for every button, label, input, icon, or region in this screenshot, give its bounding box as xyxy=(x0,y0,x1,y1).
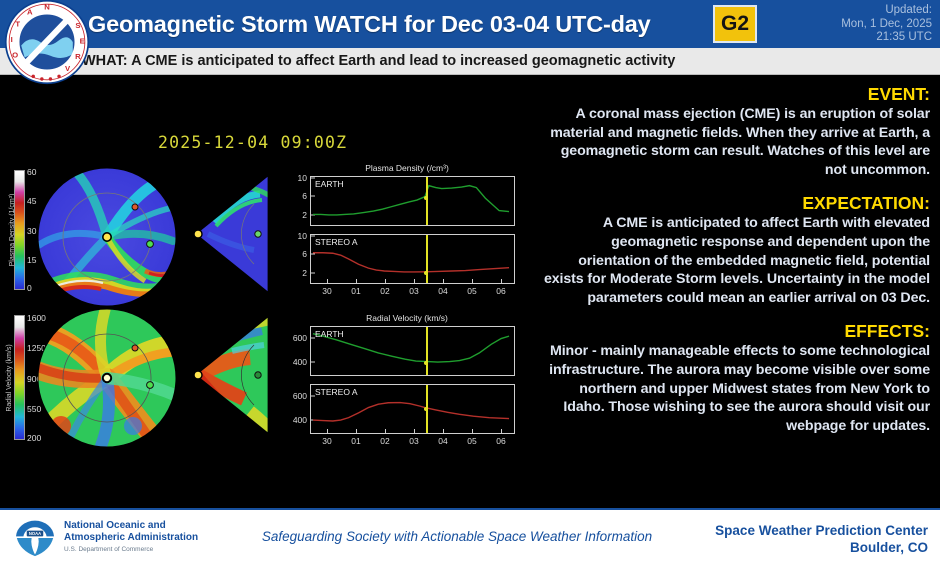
model-frame-timestamp: 2025-12-04 09:00Z xyxy=(158,133,347,152)
section-body: A CME is anticipated to affect Earth wit… xyxy=(543,214,930,307)
svg-text:NOAA: NOAA xyxy=(29,531,41,536)
x-tick: 01 xyxy=(351,286,360,296)
agency-line-1: National Oceanic and xyxy=(64,520,198,532)
svg-text:I: I xyxy=(11,35,13,44)
agency-line-2: Atmospheric Administration xyxy=(64,532,198,544)
x-tick: 06 xyxy=(496,286,505,296)
velocity-ecliptic-plot xyxy=(37,308,177,448)
department-of-commerce-label: U.S. Department of Commerce xyxy=(64,546,153,553)
velocity-colorbar-gradient xyxy=(14,315,25,440)
page-title: Geomagnetic Storm WATCH for Dec 03-04 UT… xyxy=(88,4,698,44)
sun-marker-icon xyxy=(194,371,202,379)
svg-text:S: S xyxy=(75,21,80,30)
arrival-value-dot xyxy=(424,407,428,411)
report-text-panel: EVENT: A coronal mass ejection (CME) is … xyxy=(537,78,940,508)
arrival-time-marker xyxy=(426,235,428,283)
x-tick: 02 xyxy=(380,286,389,296)
earth-marker-icon xyxy=(147,382,154,389)
colorbar-tick: 30 xyxy=(27,226,36,236)
x-tick: 05 xyxy=(467,436,476,446)
x-tick: 05 xyxy=(467,286,476,296)
section-heading: EXPECTATION: xyxy=(543,193,930,214)
swpc-storm-watch-graphic: Geomagnetic Storm WATCH for Dec 03-04 UT… xyxy=(0,0,940,562)
report-section-effects: EFFECTS: Minor - mainly manageable effec… xyxy=(543,321,930,435)
noaa-agency-name: National Oceanic and Atmospheric Adminis… xyxy=(64,520,198,543)
center-line-2: Boulder, CO xyxy=(715,539,928,556)
report-section-expectation: EXPECTATION: A CME is anticipated to aff… xyxy=(543,193,930,307)
updated-time: 21:35 UTC xyxy=(762,31,932,45)
y-tick: 600 xyxy=(293,391,307,401)
updated-label: Updated: xyxy=(762,4,932,18)
stereo-a-marker-icon xyxy=(132,204,138,210)
svg-text:R: R xyxy=(75,52,81,61)
plasma-density-stereoa-panel: STEREO A 10 6 2 30 01 02 03 04 05 06 xyxy=(310,234,515,284)
x-tick: 30 xyxy=(322,286,331,296)
sun-marker-icon xyxy=(194,230,202,238)
arrival-value-dot xyxy=(424,271,428,275)
enlil-model-panel: 2025-12-04 09:00Z Plasma Density (1/cm³)… xyxy=(0,75,537,475)
arrival-value-dot xyxy=(424,361,428,365)
y-tick: 400 xyxy=(293,357,307,367)
svg-text:N: N xyxy=(44,2,50,11)
density-ecliptic-plot xyxy=(37,167,177,307)
radial-velocity-chart-title: Radial Velocity (km/s) xyxy=(282,313,532,323)
what-subtitle-text: WHAT: A CME is anticipated to affect Ear… xyxy=(82,53,675,69)
density-colorbar-gradient xyxy=(14,170,25,290)
x-tick: 04 xyxy=(438,286,447,296)
radial-velocity-chart: Radial Velocity (km/s) EARTH 600 400 STE… xyxy=(282,313,532,448)
what-subtitle-bar: WHAT: A CME is anticipated to affect Ear… xyxy=(0,48,940,75)
plasma-density-chart-title: Plasma Density (/cm³) xyxy=(282,163,532,173)
section-body: Minor - mainly manageable effects to som… xyxy=(543,342,930,435)
x-tick: 03 xyxy=(409,436,418,446)
arrival-time-marker xyxy=(426,327,428,375)
earth-marker-icon xyxy=(147,241,154,248)
storm-scale-badge: G2 xyxy=(713,5,757,43)
velocity-colorbar-title: Radial Velocity (km/s) xyxy=(6,344,13,411)
radial-velocity-earth-panel: EARTH 600 400 xyxy=(310,326,515,376)
x-tick: 01 xyxy=(351,436,360,446)
x-tick: 03 xyxy=(409,286,418,296)
arrival-value-dot xyxy=(424,196,428,200)
y-tick: 400 xyxy=(293,415,307,425)
y-tick: 6 xyxy=(302,191,307,201)
x-tick: 06 xyxy=(496,436,505,446)
footer-bar: NOAA National Oceanic and Atmospheric Ad… xyxy=(0,508,940,562)
sun-marker-icon xyxy=(103,233,111,241)
earth-marker-icon xyxy=(255,231,261,237)
stereo-a-marker-icon xyxy=(132,345,138,351)
swpc-center-name: Space Weather Prediction Center Boulder,… xyxy=(715,522,928,556)
updated-timestamp: Updated: Mon, 1 Dec, 2025 21:35 UTC xyxy=(762,4,932,45)
nws-logo-icon: N A T I O S E R V xyxy=(4,0,90,85)
colorbar-tick: 0 xyxy=(27,283,32,293)
y-tick: 2 xyxy=(302,210,307,220)
report-section-event: EVENT: A coronal mass ejection (CME) is … xyxy=(543,84,930,179)
center-line-1: Space Weather Prediction Center xyxy=(715,522,928,539)
panel-label-earth: EARTH xyxy=(315,329,344,339)
section-heading: EFFECTS: xyxy=(543,321,930,342)
colorbar-tick: 45 xyxy=(27,196,36,206)
section-heading: EVENT: xyxy=(543,84,930,105)
svg-text:A: A xyxy=(27,7,33,16)
header-bar: Geomagnetic Storm WATCH for Dec 03-04 UT… xyxy=(0,0,940,48)
arrival-time-marker xyxy=(426,177,428,225)
panel-label-earth: EARTH xyxy=(315,179,344,189)
velocity-meridional-plot xyxy=(192,311,272,439)
plasma-density-earth-panel: EARTH 10 6 2 xyxy=(310,176,515,226)
panel-label-stereo-a: STEREO A xyxy=(315,237,358,247)
radial-velocity-stereoa-panel: STEREO A 600 400 30 01 02 03 04 05 06 xyxy=(310,384,515,434)
density-meridional-plot xyxy=(192,170,272,298)
section-body: A coronal mass ejection (CME) is an erup… xyxy=(543,105,930,179)
sun-marker-icon xyxy=(103,374,111,382)
y-tick: 10 xyxy=(298,231,307,241)
colorbar-tick: 60 xyxy=(27,167,36,177)
noaa-logo-icon: NOAA xyxy=(14,519,56,557)
x-tick: 30 xyxy=(322,436,331,446)
svg-text:T: T xyxy=(15,20,20,29)
svg-text:E: E xyxy=(80,37,85,46)
colorbar-tick: 15 xyxy=(27,255,36,265)
y-tick: 10 xyxy=(298,173,307,183)
plasma-density-chart: Plasma Density (/cm³) EARTH 10 6 2 STERE… xyxy=(282,163,532,298)
x-tick: 04 xyxy=(438,436,447,446)
svg-text:O: O xyxy=(12,50,18,59)
panel-label-stereo-a: STEREO A xyxy=(315,387,358,397)
y-tick: 2 xyxy=(302,268,307,278)
updated-date: Mon, 1 Dec, 2025 xyxy=(762,18,932,32)
earth-marker-icon xyxy=(255,372,261,378)
x-tick: 02 xyxy=(380,436,389,446)
y-tick: 600 xyxy=(293,333,307,343)
svg-text:V: V xyxy=(65,64,71,73)
y-tick: 6 xyxy=(302,249,307,259)
footer-tagline: Safeguarding Society with Actionable Spa… xyxy=(232,529,682,544)
